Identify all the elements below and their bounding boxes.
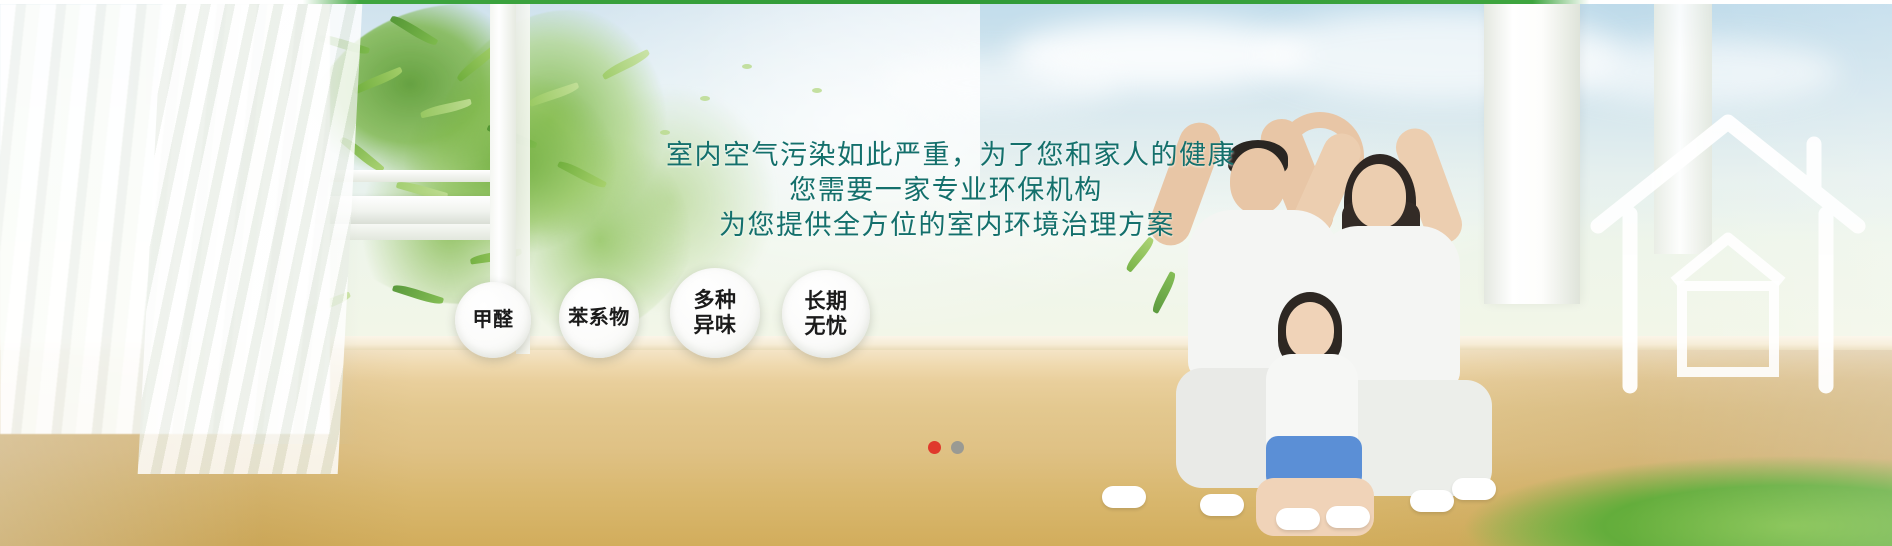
shoe — [1410, 490, 1454, 512]
badge-label-line-2: 无忧 — [805, 314, 848, 339]
badge-label: 甲醛 — [473, 309, 514, 332]
cloud-shape — [880, 55, 1120, 111]
floating-petal — [812, 88, 822, 93]
carousel-pagination — [0, 441, 1892, 454]
child-head — [1286, 302, 1334, 358]
badge-label: 苯系物 — [568, 307, 630, 330]
badge-label: 多种异味 — [694, 288, 737, 338]
father-head — [1230, 148, 1286, 214]
badge-odors[interactable]: 多种异味 — [670, 268, 760, 358]
shoe — [1200, 494, 1244, 516]
family-photo — [1080, 106, 1510, 546]
shoe — [1102, 486, 1146, 508]
badge-formaldehyde[interactable]: 甲醛 — [455, 282, 531, 358]
floating-petal — [660, 130, 670, 135]
badge-long-term[interactable]: 长期无忧 — [782, 270, 870, 358]
carousel-dot-2[interactable] — [951, 441, 964, 454]
badge-label: 长期无忧 — [805, 289, 848, 339]
floating-petal — [742, 64, 752, 69]
floating-petal — [700, 96, 710, 101]
feature-badges: 甲醛 苯系物 多种异味 长期无忧 — [455, 268, 895, 363]
shoe — [1276, 508, 1320, 530]
badge-label-line-2: 异味 — [694, 313, 737, 338]
badge-label-line-1: 长期 — [805, 289, 848, 314]
badge-label-line-1: 多种 — [694, 288, 737, 313]
shoe — [1326, 506, 1370, 528]
badge-benzene[interactable]: 苯系物 — [559, 278, 639, 358]
curtain-left-inner — [138, 4, 363, 474]
mother-head — [1352, 164, 1406, 228]
top-green-rule — [0, 0, 1892, 4]
house-outline-icon — [1578, 86, 1878, 406]
shoe — [1452, 478, 1496, 500]
hero-banner: 室内空气污染如此严重，为了您和家人的健康 您需要一家专业环保机构 为您提供全方位… — [0, 0, 1892, 546]
carousel-dot-1[interactable] — [928, 441, 941, 454]
